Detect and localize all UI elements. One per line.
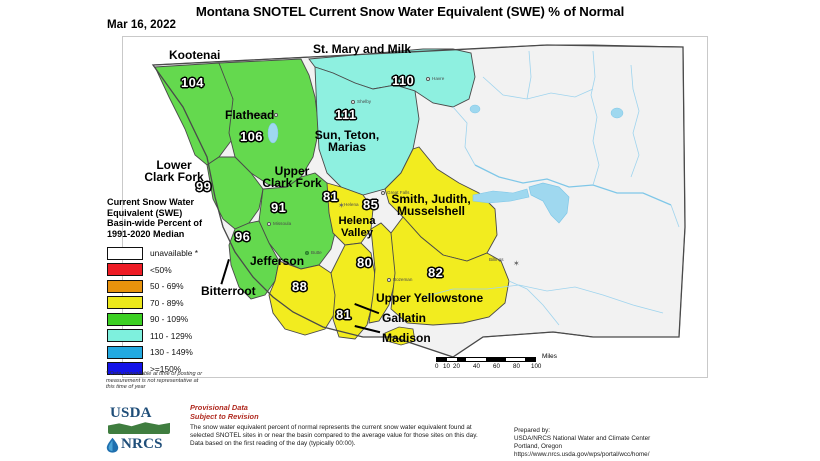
prepared-by-block: Prepared by: USDA/NRCS National Water an…: [514, 427, 744, 459]
usda-hill-graphic: [108, 421, 170, 434]
city-label-butte: Butte: [311, 250, 322, 255]
legend-label-130-149: 130 - 149%: [150, 347, 193, 357]
scale-bar-graphic: [436, 357, 536, 362]
snotel-map-page: Montana SNOTEL Current Snow Water Equiva…: [0, 0, 820, 461]
legend: Current Snow Water Equivalent (SWE) Basi…: [107, 197, 212, 377]
basin-value-sun-teton-marias: 111: [335, 107, 356, 122]
prepared-by-org: USDA/NRCS National Water and Climate Cen…: [514, 435, 744, 443]
basin-jefferson: [269, 261, 337, 335]
scale-bar-ticks: 0 10 20 40 60 80 100: [436, 363, 542, 372]
basin-value-lower-clark-fork: 99: [196, 179, 211, 194]
basin-label-helena-valley: HelenaValley: [328, 215, 386, 240]
scale-tick-60: 60: [493, 363, 500, 370]
usda-nrcs-logo: USDA NRCS: [102, 403, 180, 453]
legend-label-90-109: 90 - 109%: [150, 314, 188, 324]
basin-value-smith-judith: 85: [363, 197, 378, 212]
legend-item-50-69[interactable]: 50 - 69%: [107, 278, 212, 294]
legend-label-lt50: <50%: [150, 265, 172, 275]
basin-value-upper-yellowstone: 82: [428, 265, 443, 280]
legend-item-90-109[interactable]: 90 - 109%: [107, 311, 212, 327]
basin-value-flathead: 106: [240, 129, 263, 144]
scale-tick-20: 20: [453, 363, 460, 370]
city-label-billings: Billings: [489, 257, 504, 262]
legend-swatch-130-149: [107, 346, 143, 359]
basin-label-st-mary-milk: St. Mary and Milk: [313, 43, 411, 55]
map-date: Mar 16, 2022: [107, 18, 176, 31]
city-label-helena: Helena: [344, 202, 359, 207]
basin-label-upper-yellowstone: Upper Yellowstone: [376, 292, 483, 304]
city-marker-bozeman: [387, 278, 391, 282]
basin-value-jefferson: 88: [292, 279, 307, 294]
basin-value-madison: 81: [336, 307, 351, 322]
scale-tick-80: 80: [513, 363, 520, 370]
prepared-by-city: Portland, Oregon: [514, 443, 744, 451]
nrcs-wordmark: NRCS: [121, 436, 163, 453]
city-label-shelby: Shelby: [357, 99, 371, 104]
legend-swatch-50-69: [107, 280, 143, 293]
legend-label-unavailable: unavailable *: [150, 248, 198, 258]
legend-footnote: * Data unavailable at time of posting or…: [106, 371, 206, 391]
legend-swatch-unavailable: [107, 247, 143, 260]
basin-label-kootenai: Kootenai: [169, 49, 220, 61]
city-marker-butte: [305, 251, 309, 255]
legend-swatch-lt50: [107, 263, 143, 276]
legend-swatch-90-109: [107, 313, 143, 326]
provisional-line-1: Provisional Data: [190, 403, 259, 412]
legend-swatch-70-89: [107, 296, 143, 309]
nrcs-row: NRCS: [106, 436, 163, 453]
basin-value-gallatin: 80: [357, 255, 372, 270]
city-marker-shelby: [351, 100, 355, 104]
legend-item-130-149[interactable]: 130 - 149%: [107, 344, 212, 360]
basin-value-kootenai: 104: [181, 75, 204, 90]
basin-label-gallatin: Gallatin: [382, 312, 426, 324]
basin-label-upper-clark-fork: UpperClark Fork: [251, 165, 333, 190]
city-marker-havre: [426, 77, 430, 81]
water-drop-icon: [106, 437, 119, 453]
prepared-by-url[interactable]: https://www.nrcs.usda.gov/wps/portal/wcc…: [514, 451, 744, 459]
scale-bar: 0 10 20 40 60 80 100 Miles: [436, 357, 540, 372]
scale-tick-40: 40: [473, 363, 480, 370]
basin-value-st-mary-milk: 110: [392, 73, 414, 88]
scale-tick-0: 0: [435, 363, 438, 370]
legend-item-unavailable[interactable]: unavailable *: [107, 245, 212, 261]
city-label-missoula: Missoula: [273, 221, 291, 226]
basin-label-madison: Madison: [382, 332, 431, 344]
scale-tick-10: 10: [443, 363, 450, 370]
basin-value-bitterroot: 96: [235, 229, 250, 244]
map-description: The snow water equivalent percent of nor…: [190, 424, 490, 448]
city-marker-kalispell: [274, 113, 278, 117]
basin-label-jefferson: Jefferson: [250, 255, 304, 267]
basin-label-flathead: Flathead: [225, 109, 274, 121]
provisional-data-notice: Provisional Data Subject to Revision: [190, 403, 259, 421]
city-label-havre: Havre: [432, 76, 444, 81]
usda-wordmark: USDA: [110, 405, 152, 422]
prepared-by-label: Prepared by:: [514, 427, 744, 435]
legend-label-110-129: 110 - 129%: [150, 331, 192, 341]
legend-swatch-110-129: [107, 329, 143, 342]
basin-value-upper-clark-fork: 91: [271, 200, 286, 215]
basin-label-sun-teton-marias: Sun, Teton,Marias: [301, 129, 393, 154]
page-title: Montana SNOTEL Current Snow Water Equiva…: [0, 4, 820, 19]
basin-value-helena-valley: 81: [323, 189, 338, 204]
city-marker-billings: ✶: [513, 261, 520, 267]
basin-label-smith-judith-musselshell: Smith, Judith,Musselshell: [375, 193, 487, 218]
provisional-line-2: Subject to Revision: [190, 412, 259, 421]
scale-units-label: Miles: [542, 353, 557, 360]
legend-label-70-89: 70 - 89%: [150, 298, 184, 308]
legend-label-50-69: 50 - 69%: [150, 281, 184, 291]
city-label-bozeman: Bozeman: [393, 277, 412, 282]
legend-item-70-89[interactable]: 70 - 89%: [107, 295, 212, 311]
legend-item-lt50[interactable]: <50%: [107, 262, 212, 278]
legend-title: Current Snow Water Equivalent (SWE) Basi…: [107, 197, 212, 239]
scale-tick-100: 100: [531, 363, 541, 370]
legend-item-110-129[interactable]: 110 - 129%: [107, 328, 212, 344]
city-marker-missoula: [267, 222, 271, 226]
